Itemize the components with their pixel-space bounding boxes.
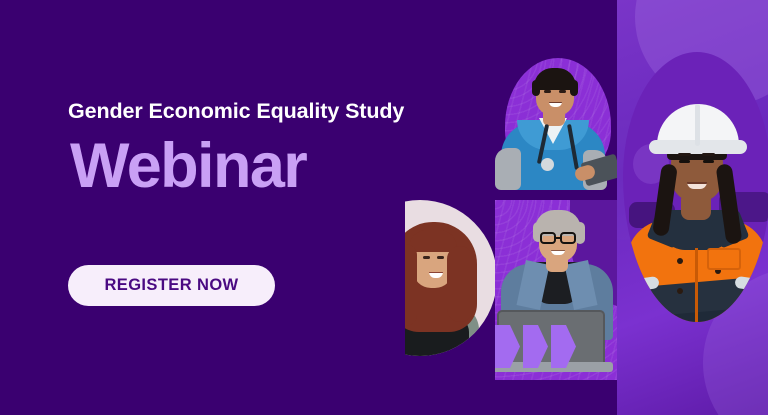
photo-collage — [405, 0, 618, 415]
chevron-icon — [523, 325, 548, 368]
chevron-icon — [551, 325, 576, 368]
photo-doctor — [487, 62, 618, 190]
eyebrow-title: Gender Economic Equality Study — [68, 100, 468, 123]
chevron-arrows — [495, 325, 577, 368]
photo-construction-worker — [623, 52, 768, 322]
chevron-icon — [495, 325, 520, 368]
register-now-label: REGISTER NOW — [104, 276, 238, 295]
photo-woman-red-hair — [405, 200, 497, 356]
page-title: Webinar — [70, 135, 468, 198]
register-now-button[interactable]: REGISTER NOW — [68, 265, 275, 306]
text-block: Gender Economic Equality Study Webinar — [68, 100, 468, 198]
webinar-banner: Gender Economic Equality Study Webinar R… — [0, 0, 768, 415]
right-panel — [617, 0, 768, 415]
